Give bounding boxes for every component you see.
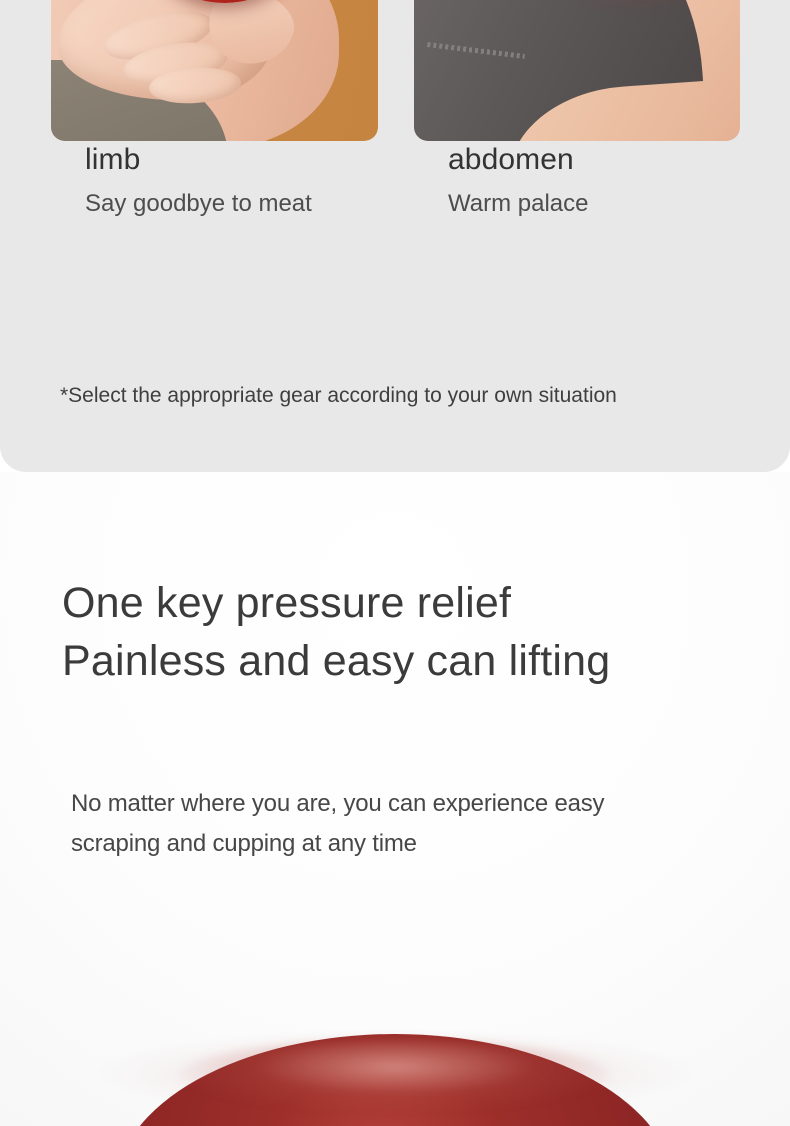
scenario-labels-limb: limb Say goodbye to meat [85, 141, 312, 219]
feature-headline-line-1: One key pressure relief [62, 574, 762, 632]
feature-body-line-2: scraping and cupping at any time [71, 824, 721, 864]
scenario-title-limb: limb [85, 141, 312, 179]
feature-section: One key pressure relief Painless and eas… [0, 472, 790, 1126]
scenario-image-card-limb[interactable] [51, 0, 378, 141]
feature-body-copy: No matter where you are, you can experie… [71, 784, 721, 864]
abdomen-cupping-photo [414, 0, 740, 141]
feature-body-line-1: No matter where you are, you can experie… [71, 784, 721, 824]
feature-headline: One key pressure relief Painless and eas… [62, 574, 762, 690]
product-photo-area [0, 1006, 790, 1126]
usage-scenarios-panel: limb Say goodbye to meat abdomen Warm pa… [0, 0, 790, 472]
feature-headline-line-2: Painless and easy can lifting [62, 632, 762, 690]
limb-cupping-photo [51, 0, 378, 141]
abdomen-fabric-shape [414, 0, 708, 141]
gear-selection-footnote: *Select the appropriate gear according t… [60, 382, 617, 410]
scenario-subtitle-limb: Say goodbye to meat [85, 189, 312, 219]
scenario-title-abdomen: abdomen [448, 141, 588, 179]
scenario-labels-abdomen: abdomen Warm palace [448, 141, 588, 219]
product-highlight-sheen [180, 1040, 610, 1110]
scenario-subtitle-abdomen: Warm palace [448, 189, 588, 219]
scenario-image-card-abdomen[interactable] [414, 0, 740, 141]
scenario-image-row [0, 0, 790, 141]
